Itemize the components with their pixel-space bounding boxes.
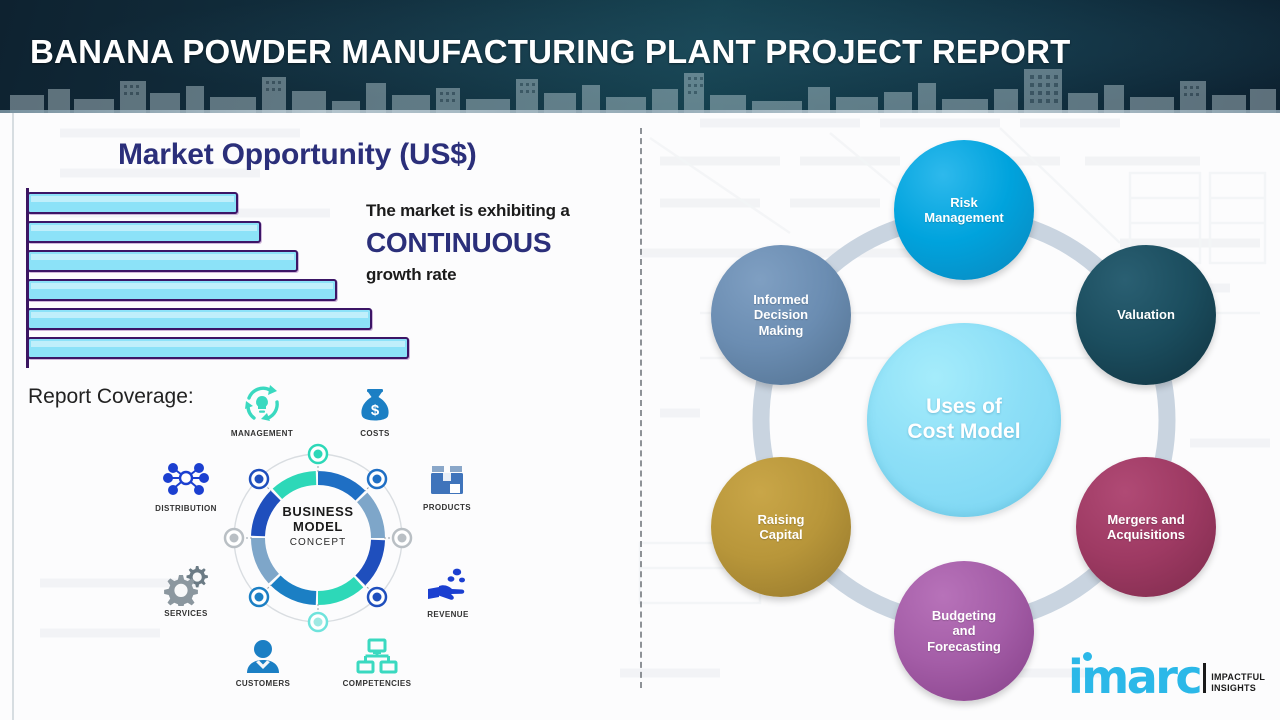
business-model-center-label: BUSINESS MODEL CONCEPT [248,505,388,548]
bar-row [27,308,372,330]
node-valuation[interactable]: Valuation [1076,245,1216,385]
logo-tagline-line-2: INSIGHTS [1211,683,1265,693]
left-rail-divider [12,113,14,720]
coverage-label-management: MANAGEMENT [222,429,302,438]
bar-row [27,250,298,272]
bar-row [27,279,337,301]
node-risk-line-1: Risk [918,195,1009,210]
coverage-item-competencies[interactable]: COMPETENCIES [333,638,421,688]
node-mergers-line-2: Acquisitions [1101,527,1191,542]
svg-text:$: $ [371,402,380,419]
slide-root: BANANA POWDER MANUFACTURING PLANT PROJEC… [0,0,1280,720]
coverage-item-services[interactable]: SERVICES [148,562,224,618]
node-budgeting-line-3: Forecasting [921,639,1007,654]
node-informed-line-3: Making [747,323,815,338]
logo-dot-icon [1083,652,1092,661]
market-statement: The market is exhibiting a CONTINUOUS gr… [366,200,628,286]
node-risk-line-2: Management [918,210,1009,225]
node-informed-line-2: Decision [747,307,815,322]
center-node-uses-of-cost-model[interactable]: Uses of Cost Model [867,323,1061,517]
logo-wordmark: imarc [1068,660,1200,696]
person-icon [242,638,284,676]
logo-separator [1203,663,1206,693]
bar-row [27,192,238,214]
node-risk-management[interactable]: Risk Management [894,140,1034,280]
coverage-label-costs: COSTS [337,429,413,438]
business-model-line-1: BUSINESS [248,505,388,520]
node-informed-line-1: Informed [747,292,815,307]
node-raising-capital[interactable]: Raising Capital [711,457,851,597]
imarc-logo[interactable]: imarc IMPACTFUL INSIGHTS [1068,660,1265,696]
org-chart-icon [355,638,399,676]
market-opportunity-bar-chart [20,188,420,368]
coverage-item-products[interactable]: PRODUCTS [408,462,486,512]
network-nodes-icon [161,455,211,501]
node-informed-decision-making[interactable]: Informed Decision Making [711,245,851,385]
statement-highlight: CONTINUOUS [366,223,628,264]
coverage-label-revenue: REVENUE [410,610,486,619]
node-budgeting-line-2: and [921,623,1007,638]
business-model-line-2: MODEL [248,520,388,535]
coverage-item-revenue[interactable]: REVENUE [410,565,486,619]
bar-row [27,221,261,243]
coverage-label-distribution: DISTRIBUTION [146,504,226,513]
node-valuation-label: Valuation [1111,307,1181,322]
center-node-line-2: Cost Model [901,420,1026,445]
recycle-bulb-icon [240,382,284,426]
coverage-label-services: SERVICES [148,609,224,618]
coverage-item-distribution[interactable]: DISTRIBUTION [146,455,226,513]
bar-row [27,337,409,359]
coverage-label-customers: CUSTOMERS [225,679,301,688]
node-raising-line-1: Raising [752,512,811,527]
coverage-label-products: PRODUCTS [408,503,486,512]
market-opportunity-title: Market Opportunity (US$) [118,138,477,172]
logo-tagline-line-1: IMPACTFUL [1211,672,1265,682]
money-bag-icon: $ [355,382,395,426]
hand-coins-icon [424,565,472,607]
coverage-item-customers[interactable]: CUSTOMERS [225,638,301,688]
product-box-icon [427,462,467,500]
node-budgeting-line-1: Budgeting [921,608,1007,623]
center-node-line-1: Uses of [901,395,1026,420]
coverage-label-competencies: COMPETENCIES [333,679,421,688]
coverage-item-costs[interactable]: $ COSTS [337,382,413,438]
node-budgeting-forecasting[interactable]: Budgeting and Forecasting [894,561,1034,701]
node-raising-line-2: Capital [752,527,811,542]
statement-line-1: The market is exhibiting a [366,200,628,223]
slide-header: BANANA POWDER MANUFACTURING PLANT PROJEC… [0,0,1280,113]
logo-tagline: IMPACTFUL INSIGHTS [1211,672,1265,696]
business-model-line-3: CONCEPT [248,537,388,548]
node-mergers-acquisitions[interactable]: Mergers and Acquisitions [1076,457,1216,597]
gears-icon [162,562,210,606]
page-title: BANANA POWDER MANUFACTURING PLANT PROJEC… [30,33,1071,71]
statement-line-3: growth rate [366,264,628,286]
coverage-item-management[interactable]: MANAGEMENT [222,382,302,438]
report-coverage-label: Report Coverage: [28,385,194,409]
panel-divider [640,128,642,688]
node-mergers-line-1: Mergers and [1101,512,1191,527]
